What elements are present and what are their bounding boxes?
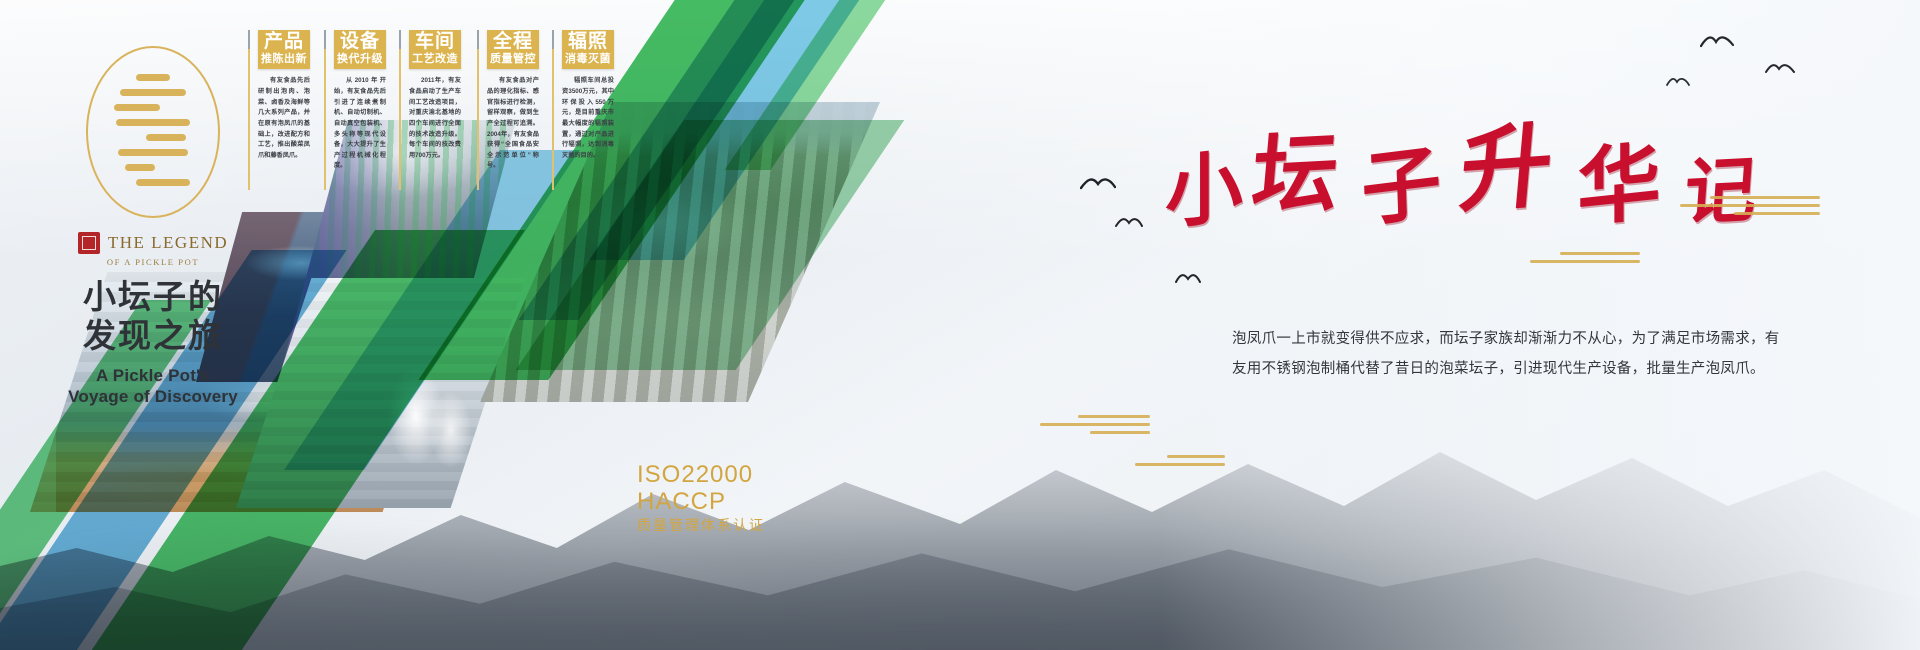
- column-body: 2011年，有友食品启动了生产车间工艺改造项目，对重庆渝北基地的四个车间进行全面…: [409, 76, 461, 161]
- bird-icon: [1666, 76, 1690, 88]
- legend-en-text: THE LEGEND: [108, 233, 228, 253]
- headline-char-1: 小: [1165, 124, 1243, 245]
- body-paragraph: 泡凤爪一上市就变得供不应求，而坛子家族却渐渐力不从心，为了满足市场需求，有友用不…: [1232, 325, 1792, 384]
- column-rail: [324, 30, 326, 190]
- column-rail: [399, 30, 401, 190]
- legend-sub-text: OF A PICKLE POT: [48, 257, 258, 267]
- poster-canvas: THE LEGEND OF A PICKLE POT 小坛子的 发现之旅 A P…: [0, 0, 1920, 650]
- headline-char-6: 记: [1681, 130, 1760, 239]
- column-rail: [477, 30, 479, 190]
- column-header: 辐照 消毒灭菌: [562, 30, 614, 69]
- headline-char-4: 升: [1455, 90, 1559, 231]
- certification-block: ISO22000 HACCP 质量管理体系认证: [637, 462, 765, 533]
- brand-subtitle-en: A Pickle Pot's Voyage of Discovery: [48, 365, 258, 408]
- info-column-irradiation: 辐照 消毒灭菌 辐照车间总投资3500万元，其中环保投入550万元，是目前重庆市…: [562, 30, 614, 161]
- headline-char-2: 坛: [1248, 101, 1345, 231]
- certification-iso: ISO22000: [637, 462, 765, 489]
- info-column-product: 产品 推陈出新 有友食品先后研制出泡肉、泡菜、卤香及海鲜等几大系列产品，并在原有…: [258, 30, 310, 161]
- brand-subtitle-line2: Voyage of Discovery: [48, 386, 258, 407]
- info-column-quality: 全程 质量管控 有友食品对产品的理化指标、感官指标进行检测，留样观察，做到生产全…: [487, 30, 539, 172]
- photo-industrial-park-aerial: [480, 102, 880, 402]
- bird-icon: [1175, 272, 1201, 285]
- bird-icon: [1765, 62, 1795, 76]
- cloud-scroll-icon: [1040, 415, 1150, 439]
- certification-haccp: HACCP: [637, 489, 765, 516]
- column-header: 设备 换代升级: [334, 30, 386, 69]
- headline-char-5: 华: [1577, 113, 1661, 243]
- info-column-equipment: 设备 换代升级 从2010年开始，有友食品先后引进了连续煮制机、自动切制机、自动…: [334, 30, 386, 172]
- column-subtitle: 换代升级: [336, 52, 384, 66]
- column-body: 有友食品对产品的理化指标、感官指标进行检测，留样观察，做到生产全过程可追溯。20…: [487, 76, 539, 172]
- cloud-scroll-icon: [1530, 252, 1640, 268]
- column-subtitle: 消毒灭菌: [564, 52, 612, 66]
- column-subtitle: 质量管控: [489, 52, 537, 66]
- column-subtitle: 推陈出新: [260, 52, 308, 66]
- column-body: 从2010年开始，有友食品先后引进了连续煮制机、自动切制机、自动真空包装机、多头…: [334, 76, 386, 172]
- bird-icon: [1700, 34, 1734, 50]
- brand-subtitle-line1: A Pickle Pot's: [48, 365, 258, 386]
- column-title: 车间: [411, 32, 459, 52]
- column-header: 车间 工艺改造: [409, 30, 461, 69]
- info-column-workshop: 车间 工艺改造 2011年，有友食品启动了生产车间工艺改造项目，对重庆渝北基地的…: [409, 30, 461, 161]
- legend-lockup: THE LEGEND: [48, 232, 258, 254]
- brand-title-line2: 发现之旅: [48, 318, 258, 355]
- headline-char-3: 子: [1359, 117, 1442, 243]
- column-header: 全程 质量管控: [487, 30, 539, 69]
- column-body: 辐照车间总投资3500万元，其中环保投入550万元，是目前重庆市最大幅度的辐照装…: [562, 76, 614, 161]
- certification-caption: 质量管理体系认证: [637, 518, 765, 534]
- brand-title-line1: 小坛子的: [48, 279, 258, 316]
- cloud-scroll-icon: [1135, 455, 1225, 471]
- bird-icon: [1115, 216, 1143, 230]
- column-rail: [552, 30, 554, 190]
- column-subtitle: 工艺改造: [411, 52, 459, 66]
- column-body: 有友食品先后研制出泡肉、泡菜、卤香及海鲜等几大系列产品，并在原有泡凤爪的基础上，…: [258, 76, 310, 161]
- column-title: 辐照: [564, 32, 612, 52]
- column-title: 全程: [489, 32, 537, 52]
- headline-calligraphy: 小 坛 子 升 华 记: [1165, 88, 1825, 208]
- column-title: 产品: [260, 32, 308, 52]
- brand-title-cn: 小坛子的 发现之旅: [48, 279, 258, 355]
- red-seal-stamp-icon: [78, 232, 100, 254]
- column-title: 设备: [336, 32, 384, 52]
- column-header: 产品 推陈出新: [258, 30, 310, 69]
- brand-block: THE LEGEND OF A PICKLE POT 小坛子的 发现之旅 A P…: [48, 40, 258, 407]
- column-rail: [248, 30, 250, 190]
- pickle-pot-seal-icon: [86, 46, 220, 218]
- bird-icon: [1080, 175, 1116, 192]
